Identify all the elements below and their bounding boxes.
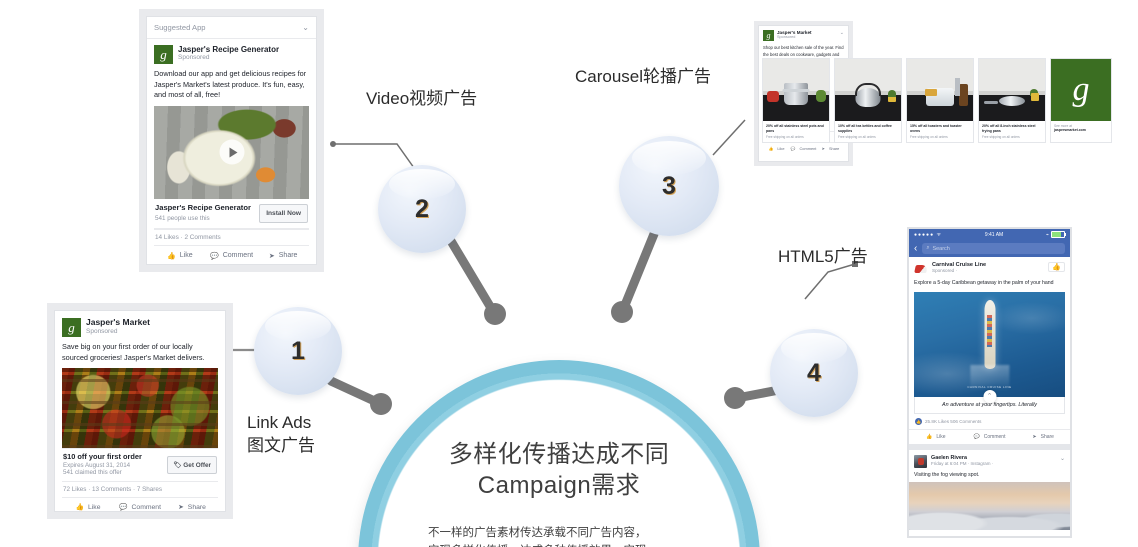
html5-ad-share-button[interactable]: ➤ Share bbox=[1016, 434, 1070, 440]
video-ad-sponsored: Sponsored bbox=[178, 54, 279, 62]
link-ad-like-button[interactable]: 👍 Like bbox=[62, 503, 114, 511]
html5-ad-stats: 25.8K Likes 506 Comments bbox=[925, 419, 981, 424]
video-ad-like-button[interactable]: 👍 Like bbox=[154, 252, 206, 260]
carousel-item-title: 10% off all tea kettles and coffee suppl… bbox=[838, 124, 898, 133]
infographic-canvas: 多样化传播达成不同 Campaign需求 不一样的广告素材传达承载不同广告内容，… bbox=[0, 0, 1138, 547]
carousel-ad-like-button[interactable]: 👍 Like bbox=[763, 146, 790, 151]
carousel-item[interactable]: 20% off all 8-inch stainless steel fryin… bbox=[978, 58, 1046, 143]
fog-image bbox=[909, 482, 1070, 530]
feed-post-photo[interactable] bbox=[909, 482, 1070, 530]
link-ad-cta-label: Get Offer bbox=[183, 462, 211, 469]
link-ad-like-label: Like bbox=[88, 504, 100, 511]
video-ad-install-button[interactable]: Install Now bbox=[259, 204, 308, 223]
expand-chevron-icon[interactable]: ⌃ bbox=[983, 390, 996, 403]
carousel-ad-like-label: Like bbox=[777, 146, 784, 151]
carousel-ad-sponsored: Sponsored bbox=[777, 35, 837, 40]
html5-ad-comment-button[interactable]: 💬 Comment bbox=[963, 434, 1017, 440]
html5-ad-body: Explore a 5-day Caribbean getaway in the… bbox=[914, 280, 1065, 288]
carousel-end-card[interactable]: g See more at jaspersmarket.com bbox=[1050, 58, 1112, 143]
thumbs-up-icon: 👍 bbox=[769, 146, 774, 151]
link-ad-body: Save big on your first order of our loca… bbox=[62, 342, 218, 363]
carousel-end-line2: jaspersmarket.com bbox=[1054, 128, 1108, 132]
comment-bubble-icon: 💬 bbox=[210, 252, 219, 260]
recipe-generator-logo-icon: g bbox=[154, 45, 173, 64]
phone-nav-bar: ‹ ⌕ Search bbox=[909, 240, 1070, 257]
leader-line-3 bbox=[713, 120, 745, 155]
carousel-item-sub: Free shipping on all orders bbox=[766, 135, 826, 139]
hub-title-line1: 多样化传播达成不同 bbox=[449, 440, 670, 471]
spoke-3 bbox=[623, 234, 654, 310]
carousel-item-title: 20% off all 8-inch stainless steel fryin… bbox=[982, 124, 1042, 133]
video-ad-suggested-header: Suggested App ⌄ bbox=[147, 17, 316, 39]
carousel-item[interactable]: 15% off all toasters and toaster ovens F… bbox=[906, 58, 974, 143]
center-hub: 多样化传播达成不同 Campaign需求 不一样的广告素材传达承载不同广告内容，… bbox=[358, 360, 760, 547]
spoke-2 bbox=[448, 236, 494, 313]
node-label-2: Video视频广告 bbox=[366, 88, 477, 111]
node-bubble-4[interactable]: 4 bbox=[770, 329, 858, 417]
carousel-item-sub: Free shipping on all orders bbox=[910, 135, 970, 139]
cruise-ship-image: CARNIVAL CRUISE LINE bbox=[914, 292, 1065, 397]
node-number-3: 3 bbox=[662, 172, 676, 201]
link-ad-offer-claimed: 541 claimed this offer bbox=[63, 469, 163, 477]
carousel-item[interactable]: 20% off all stainless steel pots and pan… bbox=[762, 58, 830, 143]
chevron-down-icon[interactable]: ⌄ bbox=[840, 30, 844, 36]
search-placeholder: Search bbox=[932, 246, 949, 252]
video-ad-suggested-label: Suggested App bbox=[154, 23, 206, 32]
link-ad-photo[interactable] bbox=[62, 368, 218, 448]
search-input[interactable]: ⌕ Search bbox=[922, 243, 1065, 254]
signal-icon: ●●●●● ᯤ bbox=[914, 232, 942, 238]
carousel-ad-share-label: Share bbox=[829, 146, 839, 151]
carousel-strip[interactable]: 20% off all stainless steel pots and pan… bbox=[762, 58, 1112, 143]
carnival-logo-icon bbox=[914, 262, 928, 276]
chevron-down-icon[interactable]: ⌄ bbox=[302, 23, 309, 32]
reaction-like-icon: 👍 bbox=[915, 418, 922, 425]
link-ad-stats: 72 Likes · 13 Comments · 7 Shares bbox=[62, 482, 218, 498]
thumbs-up-icon: 👍 bbox=[167, 252, 176, 260]
hub-description: 不一样的广告素材传达承载不同广告内容， 实现多样化传播，达成多种传播效果，实现 … bbox=[428, 524, 690, 547]
video-ad-share-button[interactable]: ➤ Share bbox=[257, 252, 309, 260]
share-arrow-icon: ➤ bbox=[269, 252, 275, 260]
thumbs-up-icon[interactable]: 👍 bbox=[1048, 262, 1065, 272]
thumbs-up-icon: 👍 bbox=[926, 434, 932, 440]
comment-bubble-icon: 💬 bbox=[791, 146, 796, 151]
jaspers-market-logo-icon: g bbox=[62, 318, 81, 337]
node-number-2: 2 bbox=[415, 195, 429, 224]
video-ad-body: Download our app and get delicious recip… bbox=[154, 69, 309, 101]
html5-ad-like-button[interactable]: 👍 Like bbox=[909, 434, 963, 440]
share-arrow-icon: ➤ bbox=[1032, 434, 1036, 440]
link-ad-share-button[interactable]: ➤ Share bbox=[166, 503, 218, 511]
produce-image bbox=[62, 368, 218, 448]
avatar[interactable] bbox=[914, 455, 927, 468]
kitchen-frying-pan-image bbox=[979, 59, 1045, 121]
feed-post-meta: Friday at 6:04 PM · Instagram · bbox=[931, 461, 1056, 466]
search-icon: ⌕ bbox=[926, 245, 929, 252]
carousel-item[interactable]: 10% off all tea kettles and coffee suppl… bbox=[834, 58, 902, 143]
html5-ad-share-label: Share bbox=[1041, 434, 1054, 440]
node-number-4: 4 bbox=[807, 359, 821, 388]
video-ad-like-label: Like bbox=[180, 252, 193, 259]
share-arrow-icon: ➤ bbox=[822, 146, 825, 151]
hub-node-3 bbox=[611, 301, 633, 323]
comment-bubble-icon: 💬 bbox=[974, 434, 980, 440]
link-ad-comment-label: Comment bbox=[132, 504, 161, 511]
node-number-1: 1 bbox=[291, 337, 305, 366]
node-bubble-2[interactable]: 2 bbox=[378, 165, 466, 253]
carousel-item-title: 15% off all toasters and toaster ovens bbox=[910, 124, 970, 133]
hub-title: 多样化传播达成不同 Campaign需求 bbox=[449, 440, 670, 501]
jaspers-market-logo-icon: g bbox=[1051, 59, 1111, 121]
comment-bubble-icon: 💬 bbox=[119, 503, 127, 511]
node-label-4: HTML5广告 bbox=[778, 246, 868, 269]
html5-ad-hero[interactable]: CARNIVAL CRUISE LINE ⌃ bbox=[914, 292, 1065, 397]
ship-graphic bbox=[984, 300, 995, 369]
play-triangle-icon bbox=[229, 147, 237, 157]
share-arrow-icon: ➤ bbox=[178, 503, 184, 511]
phone-status-bar: ●●●●● ᯤ 9:41 AM ⌁ bbox=[909, 229, 1070, 240]
battery-icon bbox=[1051, 231, 1065, 238]
node-label-3: Carousel轮播广告 bbox=[575, 66, 711, 89]
feed-post-text: Visiting the fog viewing spot. bbox=[914, 472, 1065, 478]
back-chevron-icon[interactable]: ‹ bbox=[914, 244, 917, 254]
link-ad-share-label: Share bbox=[188, 504, 206, 511]
kitchen-pot-image bbox=[763, 59, 829, 121]
video-ad-card[interactable]: Suggested App ⌄ g Jasper's Recipe Genera… bbox=[139, 9, 324, 272]
leader-endpoint-2 bbox=[330, 141, 336, 147]
chevron-down-icon[interactable]: ⌄ bbox=[1060, 455, 1065, 462]
video-ad-install-label: Install Now bbox=[266, 210, 301, 217]
thumbs-up-icon: 👍 bbox=[76, 503, 84, 511]
kitchen-kettle-image bbox=[835, 59, 901, 121]
html5-ad-comment-label: Comment bbox=[984, 434, 1006, 440]
node-bubble-3[interactable]: 3 bbox=[619, 136, 719, 236]
hub-node-2 bbox=[484, 303, 506, 325]
jaspers-market-logo-icon: g bbox=[763, 30, 774, 41]
status-time: 9:41 AM bbox=[985, 232, 1003, 238]
feed-post[interactable]: Gaelen Rivera Friday at 6:04 PM · Instag… bbox=[909, 450, 1070, 478]
hub-title-line2: Campaign需求 bbox=[449, 471, 670, 502]
kitchen-toaster-image bbox=[907, 59, 973, 121]
video-ad-app-title: Jasper's Recipe Generator bbox=[155, 204, 255, 213]
offer-tag-icon: 🏷 bbox=[173, 461, 181, 469]
carousel-ad-comment-label: Comment bbox=[799, 146, 816, 151]
link-ad-cta-button[interactable]: 🏷 Get Offer bbox=[167, 456, 217, 474]
node-label-1: Link Ads 图文广告 bbox=[247, 412, 315, 458]
play-button[interactable] bbox=[219, 140, 244, 165]
html5-ad-like-label: Like bbox=[936, 434, 945, 440]
node-bubble-1[interactable]: 1 bbox=[254, 307, 342, 395]
leader-line-4 bbox=[805, 264, 855, 299]
link-ad-comment-button[interactable]: 💬 Comment bbox=[114, 503, 166, 511]
link-ad-sponsored: Sponsored bbox=[86, 328, 150, 336]
video-ad-page-name[interactable]: Jasper's Recipe Generator bbox=[178, 45, 279, 54]
bluetooth-icon: ⌁ bbox=[1046, 232, 1049, 238]
video-ad-comment-label: Comment bbox=[223, 252, 253, 259]
carousel-item-title: 20% off all stainless steel pots and pan… bbox=[766, 124, 826, 133]
carousel-ad-share-button[interactable]: ➤ Share bbox=[817, 146, 844, 151]
carousel-item-sub: Free shipping on all orders bbox=[838, 135, 898, 139]
carousel-item-sub: Free shipping on all orders bbox=[982, 135, 1042, 139]
carousel-ad[interactable]: g Jasper's Market Sponsored ⌄ Shop our b… bbox=[754, 21, 1089, 166]
video-ad-comment-button[interactable]: 💬 Comment bbox=[206, 252, 258, 260]
html5-ad-phone[interactable]: ●●●●● ᯤ 9:41 AM ⌁ ‹ ⌕ Search bbox=[907, 227, 1072, 538]
video-ad-app-users: 541 people use this bbox=[155, 215, 255, 223]
video-ad-photo[interactable] bbox=[154, 106, 309, 199]
carousel-ad-comment-button[interactable]: 💬 Comment bbox=[790, 146, 817, 151]
link-ad-page-name[interactable]: Jasper's Market bbox=[86, 318, 150, 328]
video-ad-share-label: Share bbox=[279, 252, 298, 259]
link-ad-offer-expiry: Expires August 31, 2014 bbox=[63, 462, 163, 470]
html5-ad-sponsored: Sponsored · bbox=[932, 268, 1044, 274]
link-ad-offer-title: $10 off your first order bbox=[63, 453, 163, 462]
video-ad-stats: 14 Likes · 2 Comments bbox=[154, 229, 309, 246]
link-ad-card[interactable]: g Jasper's Market Sponsored Save big on … bbox=[47, 303, 233, 519]
